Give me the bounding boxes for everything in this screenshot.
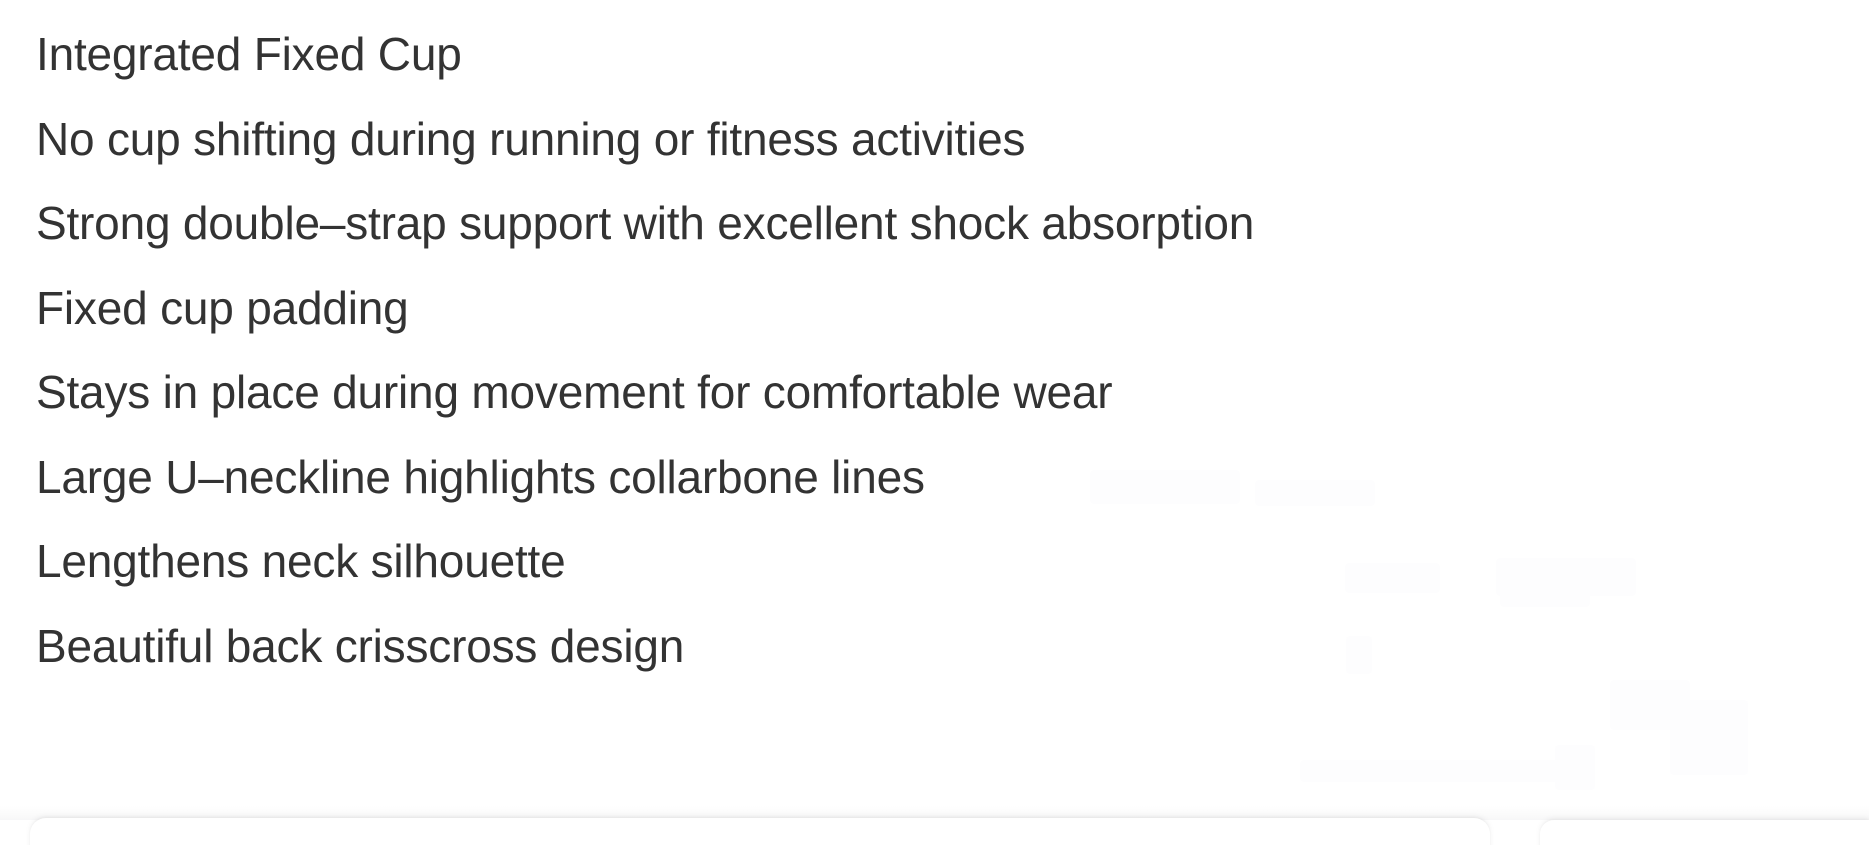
- list-item: Fixed cup padding: [0, 266, 1869, 351]
- background-artifact: [1555, 745, 1595, 790]
- list-item: Large U–neckline highlights collarbone l…: [0, 435, 1869, 520]
- bottom-card-edge-secondary[interactable]: [1540, 820, 1869, 845]
- background-artifact: [1670, 700, 1748, 775]
- list-item: Beautiful back crisscross design: [0, 604, 1869, 689]
- list-item: Strong double–strap support with excelle…: [0, 181, 1869, 266]
- list-item: No cup shifting during running or fitnes…: [0, 97, 1869, 182]
- screen-root: Integrated Fixed Cup No cup shifting dur…: [0, 0, 1869, 845]
- product-feature-list: Integrated Fixed Cup No cup shifting dur…: [0, 0, 1869, 688]
- list-item: Integrated Fixed Cup: [0, 12, 1869, 97]
- list-item: Lengthens neck silhouette: [0, 519, 1869, 604]
- bottom-card-edge[interactable]: [30, 818, 1490, 845]
- background-artifact: [1300, 760, 1560, 782]
- list-item: Stays in place during movement for comfo…: [0, 350, 1869, 435]
